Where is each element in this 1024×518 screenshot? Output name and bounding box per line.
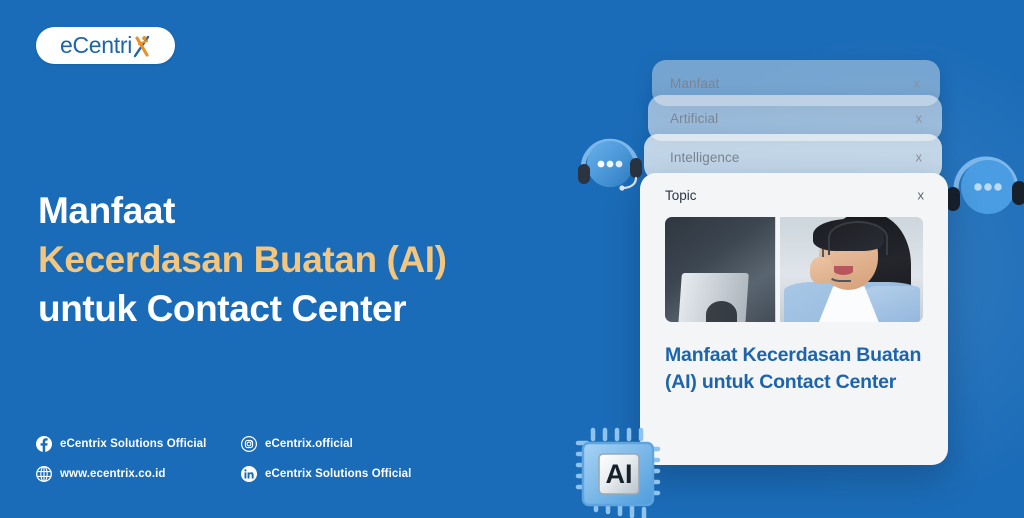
- brand-logo-wordmark: eCentri: [60, 34, 132, 57]
- topic-card-header: Topic x: [640, 173, 948, 217]
- agent-hand-shape: [810, 257, 832, 284]
- social-item-instagram[interactable]: eCentrix.official: [241, 436, 411, 452]
- close-icon[interactable]: x: [914, 77, 921, 90]
- social-label-facebook: eCentrix Solutions Official: [60, 438, 206, 450]
- topic-card[interactable]: Topic x: [640, 173, 948, 465]
- close-icon[interactable]: x: [916, 112, 923, 125]
- social-footer: eCentrix Solutions Official eCentrix.off…: [36, 436, 411, 482]
- ai-chip-icon: AI: [563, 427, 667, 518]
- social-item-linkedin[interactable]: eCentrix Solutions Official: [241, 466, 411, 482]
- brand-logo[interactable]: eCentri: [36, 27, 175, 64]
- agent-smile-shape: [834, 266, 853, 274]
- photo-divider: [776, 217, 780, 322]
- social-item-website[interactable]: www.ecentrix.co.id: [36, 466, 241, 482]
- social-label-website: www.ecentrix.co.id: [60, 468, 166, 480]
- close-icon[interactable]: x: [916, 151, 923, 164]
- linkedin-icon: [241, 466, 257, 482]
- brand-logo-text: eCentri: [60, 33, 151, 59]
- instagram-icon: [241, 436, 257, 452]
- headline: Manfaat Kecerdasan Buatan (AI) untuk Con…: [38, 186, 578, 333]
- headset-chat-icon: [573, 128, 647, 200]
- globe-icon: [36, 466, 52, 482]
- stack-row-label: Intelligence: [644, 150, 740, 165]
- social-item-facebook[interactable]: eCentrix Solutions Official: [36, 436, 241, 452]
- facebook-icon: [36, 436, 52, 452]
- topic-card-label: Topic: [640, 188, 697, 203]
- stack-row-label: Manfaat: [652, 76, 719, 91]
- x-figure-icon: [132, 33, 151, 59]
- headline-line-1: Manfaat: [38, 186, 578, 235]
- topic-card-title: Manfaat Kecerdasan Buatan (AI) untuk Con…: [665, 342, 923, 396]
- social-label-instagram: eCentrix.official: [265, 438, 353, 450]
- ai-chip-label: AI: [606, 459, 633, 489]
- stack-row-label: Artificial: [648, 111, 718, 126]
- headline-line-2: Kecerdasan Buatan (AI): [38, 235, 578, 284]
- close-icon[interactable]: x: [918, 189, 925, 202]
- promo-banner: eCentri Manfaat Kecerdasan Buatan (AI) u…: [0, 0, 1024, 518]
- headline-line-3: untuk Contact Center: [38, 284, 578, 333]
- topic-card-image: [665, 217, 923, 322]
- agent-photo-area: [775, 217, 923, 322]
- headset-chat-icon: [948, 143, 1024, 229]
- social-label-linkedin: eCentrix Solutions Official: [265, 468, 411, 480]
